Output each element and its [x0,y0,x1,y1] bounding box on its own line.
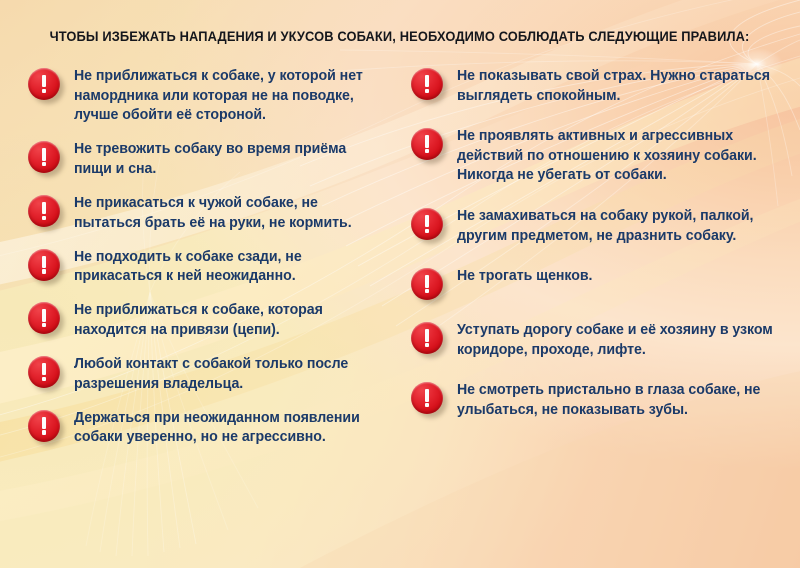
exclamation-circle-icon [28,410,60,442]
rule-text: Не приближаться к собаке, у которой нет … [74,66,372,126]
rule-text: Не тревожить собаку во время приёма пищи… [74,139,372,179]
rule-item: Не трогать щенков. [411,266,786,300]
rule-text: Не смотреть пристально в глаза собаке, н… [457,380,781,420]
rule-text: Не замахиваться на собаку рукой, палкой,… [457,206,781,246]
exclamation-circle-icon [411,128,443,160]
exclamation-circle-icon [28,195,60,227]
exclamation-circle-icon [411,208,443,240]
rules-columns: Не приближаться к собаке, у которой нет … [0,66,800,566]
poster-title-bar: ЧТОБЫ ИЗБЕЖАТЬ НАПАДЕНИЯ И УКУСОВ СОБАКИ… [0,28,800,46]
rule-text: Не подходить к собаке сзади, не прикасат… [74,247,372,287]
rules-column-left: Не приближаться к собаке, у которой нет … [0,66,385,566]
rule-item: Не проявлять активных и агрессивных дейс… [411,126,786,186]
exclamation-circle-icon [28,249,60,281]
rule-text: Держаться при неожиданном появлении соба… [74,408,372,448]
rule-item: Не приближаться к собаке, у которой нет … [28,66,377,126]
rule-item: Не показывать свой страх. Нужно старатьс… [411,66,786,106]
rule-item: Не замахиваться на собаку рукой, палкой,… [411,206,786,246]
rule-item: Не тревожить собаку во время приёма пищи… [28,139,377,179]
rule-item: Не приближаться к собаке, которая находи… [28,300,377,340]
exclamation-circle-icon [28,302,60,334]
exclamation-circle-icon [411,322,443,354]
rule-text: Любой контакт с собакой только после раз… [74,354,372,394]
exclamation-circle-icon [28,356,60,388]
rule-text: Уступать дорогу собаке и её хозяину в уз… [457,320,781,360]
rule-text: Не приближаться к собаке, которая находи… [74,300,372,340]
rule-item: Не прикасаться к чужой собаке, не пытать… [28,193,377,233]
safety-poster: ЧТОБЫ ИЗБЕЖАТЬ НАПАДЕНИЯ И УКУСОВ СОБАКИ… [0,0,800,568]
rule-item: Держаться при неожиданном появлении соба… [28,408,377,448]
poster-title: ЧТОБЫ ИЗБЕЖАТЬ НАПАДЕНИЯ И УКУСОВ СОБАКИ… [50,29,750,45]
exclamation-circle-icon [411,382,443,414]
rule-text: Не трогать щенков. [457,266,592,287]
rule-item: Уступать дорогу собаке и её хозяину в уз… [411,320,786,360]
rule-item: Не смотреть пристально в глаза собаке, н… [411,380,786,420]
rule-item: Любой контакт с собакой только после раз… [28,354,377,394]
rules-column-right: Не показывать свой страх. Нужно старатьс… [385,66,800,566]
exclamation-circle-icon [28,141,60,173]
rule-text: Не проявлять активных и агрессивных дейс… [457,126,781,186]
rule-text: Не прикасаться к чужой собаке, не пытать… [74,193,372,233]
exclamation-circle-icon [411,68,443,100]
exclamation-circle-icon [28,68,60,100]
rule-item: Не подходить к собаке сзади, не прикасат… [28,247,377,287]
exclamation-circle-icon [411,268,443,300]
rule-text: Не показывать свой страх. Нужно старатьс… [457,66,781,106]
